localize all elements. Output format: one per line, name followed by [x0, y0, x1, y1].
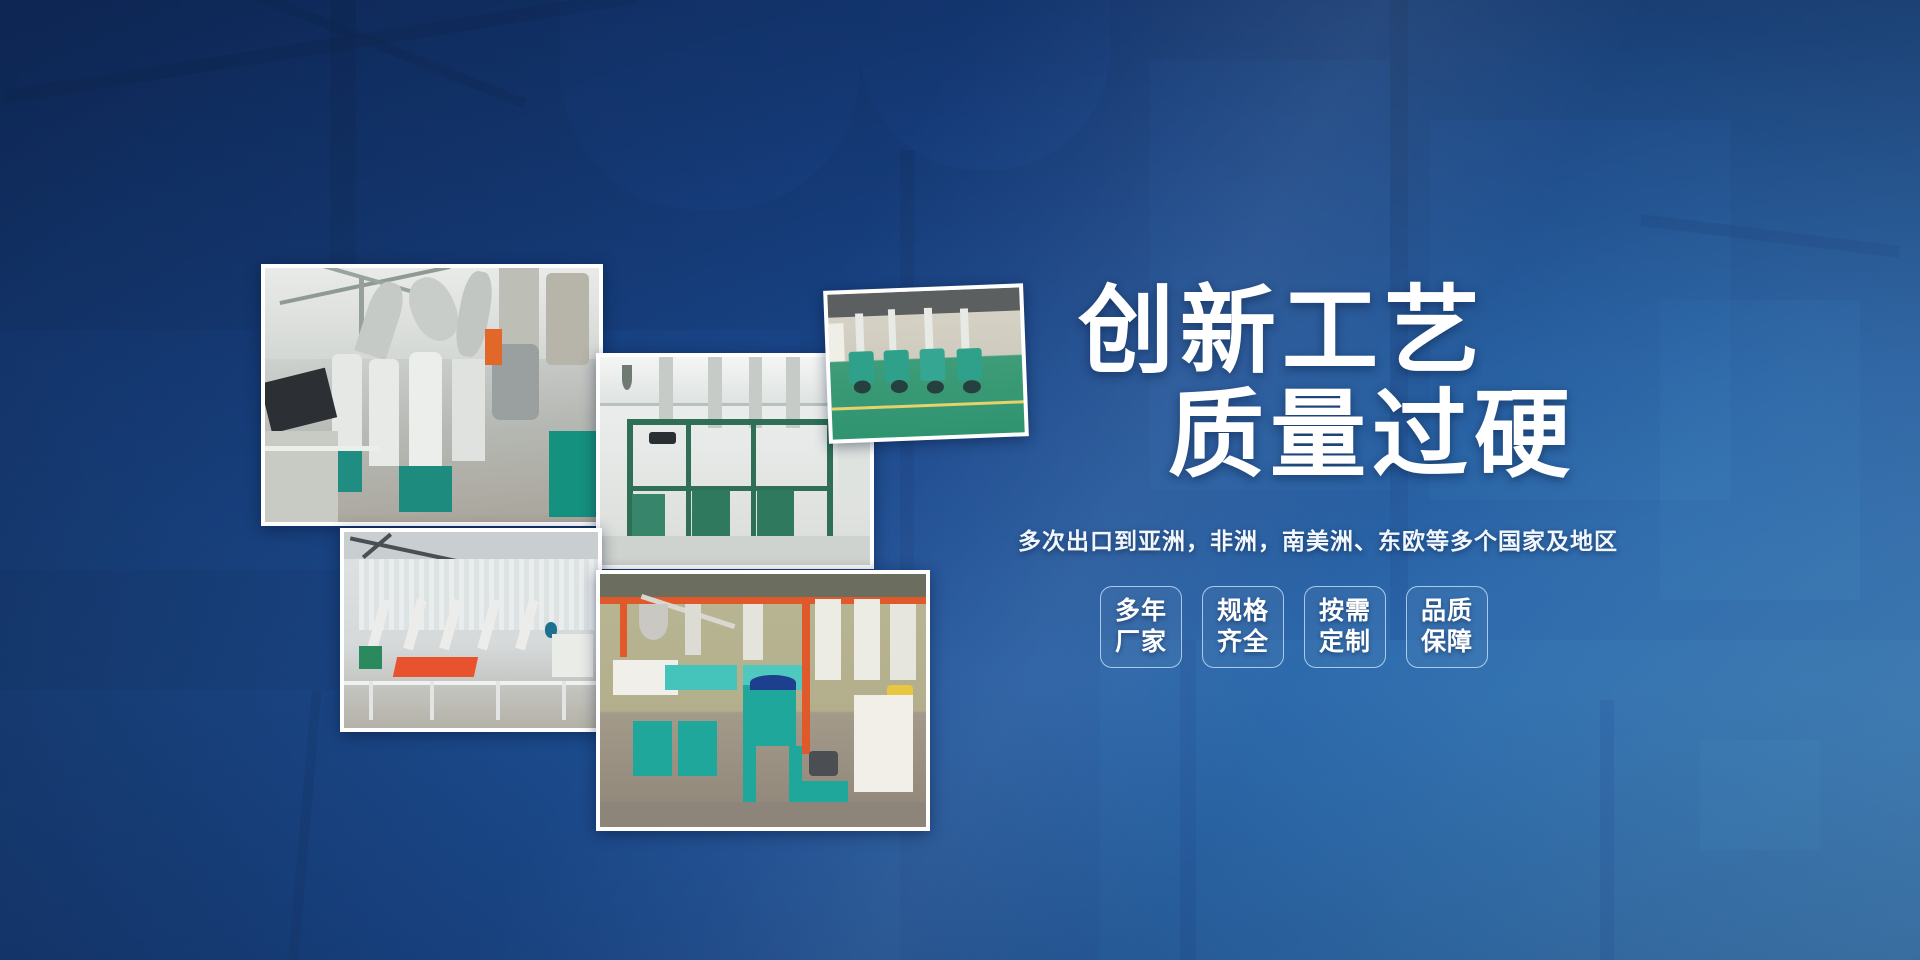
- copy-block: 创新工艺 质量过硬 多次出口到亚洲，非洲，南美洲、东欧等多个国家及地区 多年 厂…: [1000, 280, 1740, 668]
- badge-custom[interactable]: 按需 定制: [1304, 586, 1386, 668]
- badge-quality-line2: 保障: [1421, 627, 1473, 658]
- subtitle: 多次出口到亚洲，非洲，南美洲、东欧等多个国家及地区: [1000, 522, 1740, 556]
- badge-quality-line1: 品质: [1421, 596, 1473, 627]
- badge-row: 多年 厂家 规格 齐全 按需 定制 品质 保障: [1000, 586, 1740, 668]
- badge-years[interactable]: 多年 厂家: [1100, 586, 1182, 668]
- badge-specs-line2: 齐全: [1217, 627, 1269, 658]
- badge-custom-line2: 定制: [1319, 627, 1371, 658]
- badge-custom-line1: 按需: [1319, 596, 1371, 627]
- badge-specs[interactable]: 规格 齐全: [1202, 586, 1284, 668]
- headline-line-1: 创新工艺: [1000, 280, 1740, 384]
- badge-specs-line1: 规格: [1217, 596, 1269, 627]
- badge-quality[interactable]: 品质 保障: [1406, 586, 1488, 668]
- collage-photo-top-left: [261, 264, 603, 526]
- collage-photo-bottom-left: [340, 528, 602, 732]
- badge-years-line1: 多年: [1115, 596, 1167, 627]
- collage-photo-bottom: [596, 570, 930, 831]
- collage-photo-top-right: [823, 283, 1029, 444]
- badge-years-line2: 厂家: [1115, 627, 1167, 658]
- banner-stage: 创新工艺 质量过硬 多次出口到亚洲，非洲，南美洲、东欧等多个国家及地区 多年 厂…: [0, 0, 1920, 960]
- headline-line-2: 质量过硬: [1000, 384, 1740, 488]
